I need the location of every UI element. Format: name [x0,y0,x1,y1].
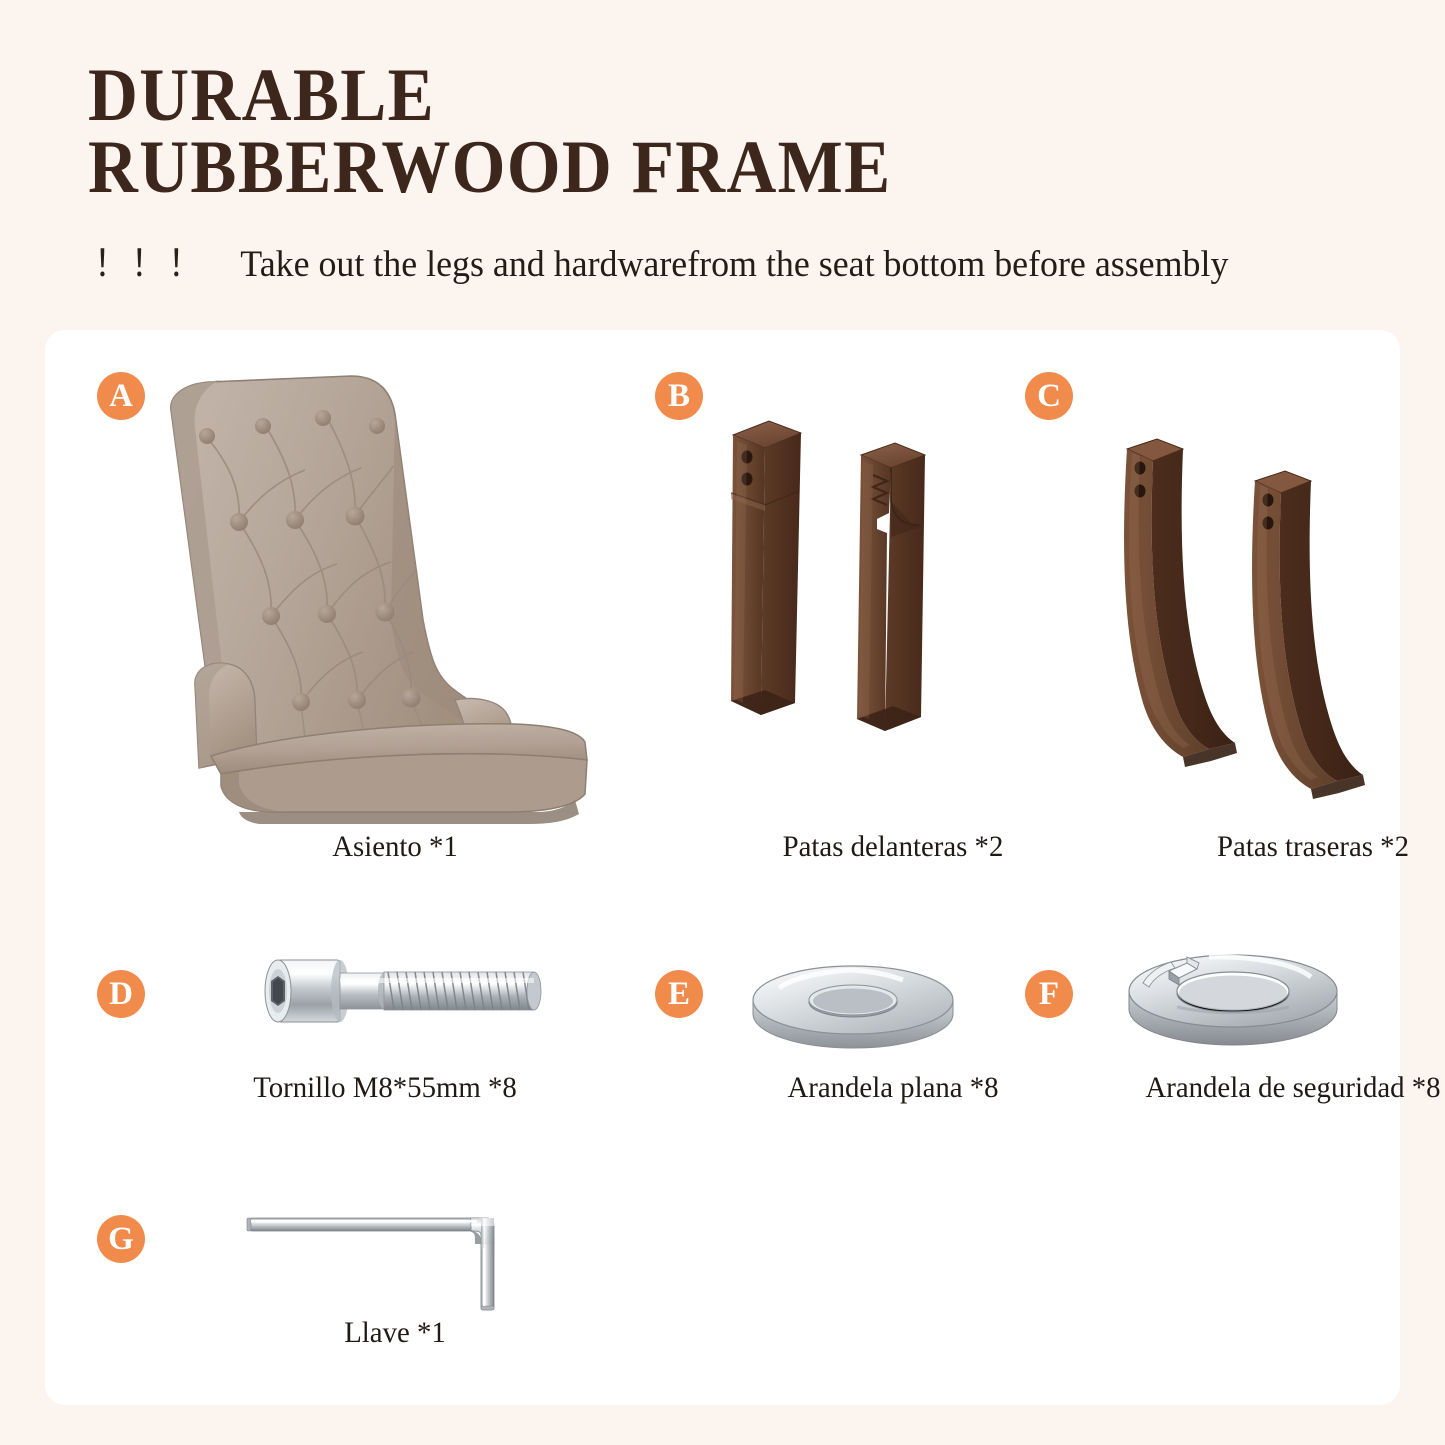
part-badge-a: A [97,372,145,420]
part-badge-d: D [97,970,145,1018]
hex-socket-bolt-icon [260,938,560,1058]
page-header: DURABLE RUBBERWOOD FRAME ！！！ Take out th… [0,0,1445,330]
front-wooden-leg-icon [703,415,1033,815]
part-badge-f: F [1025,970,1073,1018]
page-title-line-1: DURABLE [88,58,435,133]
warning-exclamation-icon: ！！！ [94,233,205,287]
parts-list-card: A [45,330,1400,1405]
part-badge-g: G [97,1215,145,1263]
upholstered-chair-seat-icon [155,370,615,820]
part-badge-b: B [655,372,703,420]
flat-washer-icon [733,948,973,1058]
warning-note: ！！！ Take out the legs and hardwarefrom t… [88,233,1244,287]
part-badge-e: E [655,970,703,1018]
allen-wrench-icon [235,1188,555,1313]
part-caption-a: Asiento *1 [107,830,683,864]
page-title-line-2: RUBBERWOOD FRAME [88,130,892,205]
part-caption-c: Patas traseras *2 [1035,830,1445,864]
split-lock-washer-icon [1113,933,1353,1058]
rear-curved-wooden-leg-icon [1113,435,1443,815]
part-badge-c: C [1025,372,1073,420]
part-caption-g: Llave *1 [107,1316,683,1350]
part-caption-d: Tornillo M8*55mm *8 [78,1071,692,1105]
warning-note-text: Take out the legs and hardwarefrom the s… [240,243,1228,286]
part-caption-f: Arandela de seguridad *8 [1015,1071,1445,1105]
